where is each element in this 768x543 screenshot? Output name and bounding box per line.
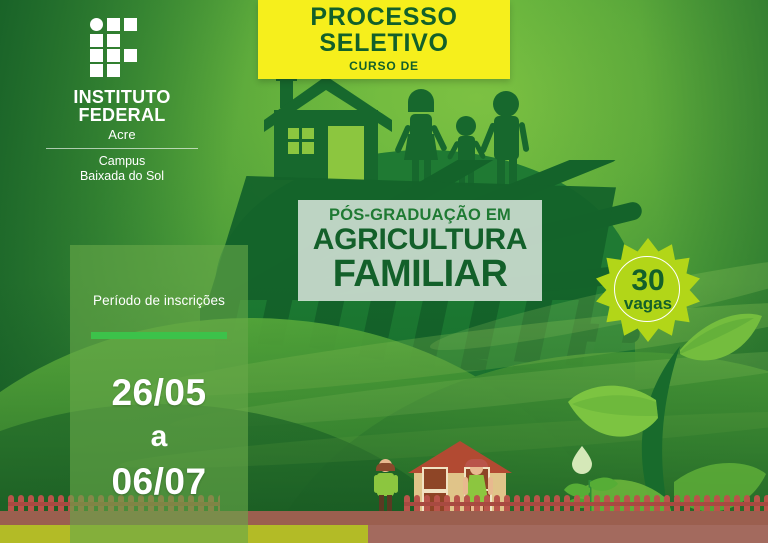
course-title-prefix: PÓS-GRADUAÇÃO EM [306,206,534,224]
vacancies-badge: 30 vagas [596,238,700,342]
registration-label: Período de inscrições [70,293,248,308]
registration-start-date: 26/05 [70,369,248,417]
poster-canvas: PROCESSO SELETIVO CURSO DE INSTITUTO FED… [0,0,768,543]
institution-logo: INSTITUTO FEDERAL Acre Campus Baixada do… [36,18,208,184]
logo-institution-line1: INSTITUTO [36,88,208,106]
banner-subtitle: CURSO DE [258,59,510,73]
registration-connector: a [70,417,248,458]
logo-institution-line2: FEDERAL [36,106,208,124]
vacancies-word: vagas [624,295,672,312]
ground-dirt [368,525,768,543]
banner-title: PROCESSO SELETIVO [258,4,510,57]
course-title-plaque: PÓS-GRADUAÇÃO EM AGRICULTURA FAMILIAR [298,200,542,301]
registration-end-date: 06/07 [70,458,248,506]
logo-campus-label: Campus [36,154,208,169]
registration-panel: Período de inscrições 26/05 a 06/07 [70,245,248,543]
course-title-line2: FAMILIAR [306,256,534,293]
registration-divider [91,332,227,339]
house-window-upper-left [422,467,448,491]
logo-divider [46,148,198,149]
logo-state: Acre [36,127,208,142]
if-logo-mark-icon [90,18,154,78]
course-title-line1: AGRICULTURA [306,225,534,254]
vacancies-number: 30 [631,268,664,294]
logo-campus-name: Baixada do Sol [36,169,208,184]
header-banner: PROCESSO SELETIVO CURSO DE [258,0,510,79]
